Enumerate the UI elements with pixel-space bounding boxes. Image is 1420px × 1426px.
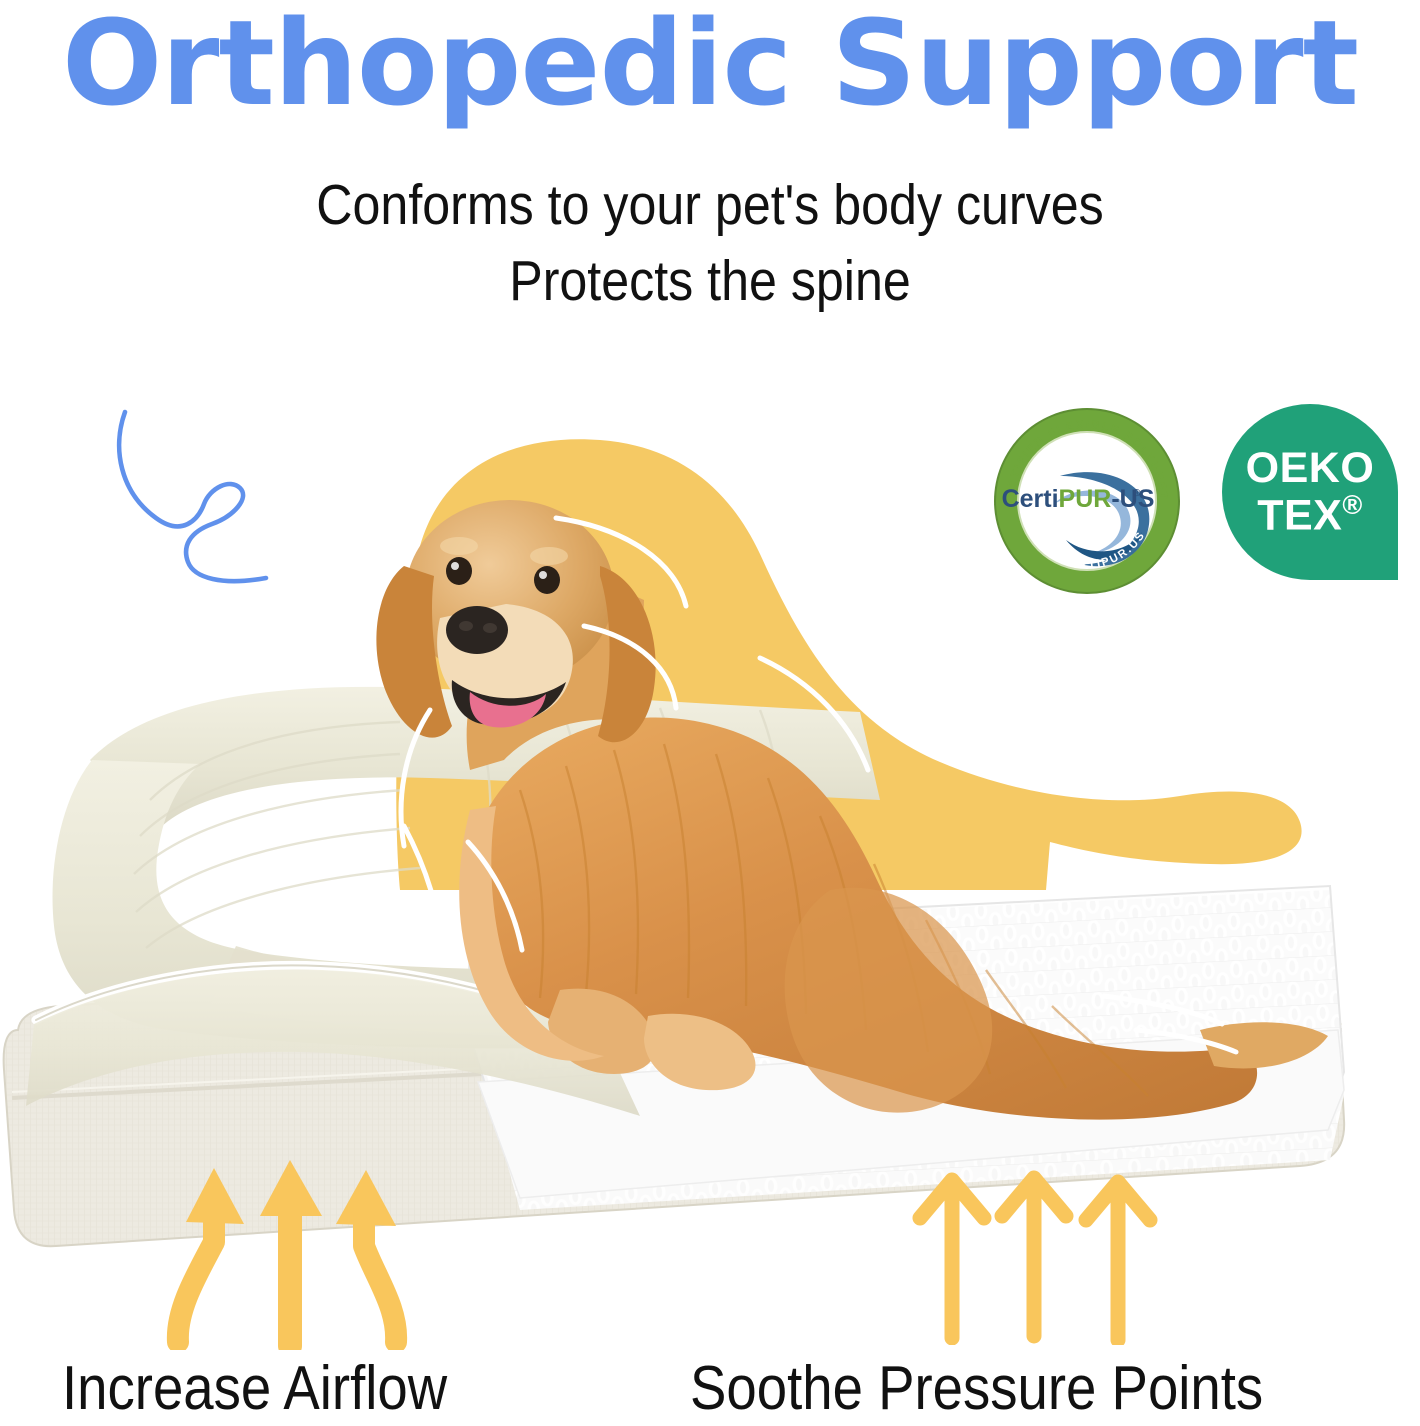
dog-nose xyxy=(446,606,508,654)
caption-increase-airflow: Increase Airflow xyxy=(62,1358,447,1420)
airflow-arrow-1 xyxy=(178,1208,214,1342)
caption-soothe-pressure-points: Soothe Pressure Points xyxy=(690,1358,1263,1420)
product-infographic: Orthopedic Support Conforms to your pet'… xyxy=(0,0,1420,1426)
airflow-arrows xyxy=(150,1150,440,1350)
dog-left-eye xyxy=(446,557,472,585)
subtitle-line-2: Protects the spine xyxy=(85,244,1335,320)
subtitle-line-1: Conforms to your pet's body curves xyxy=(85,168,1335,244)
page-title: Orthopedic Support xyxy=(0,2,1420,126)
dog-right-eye xyxy=(534,566,560,594)
pressure-relief-arrows xyxy=(910,1160,1160,1345)
airflow-arrow-3 xyxy=(364,1210,396,1342)
subtitle-block: Conforms to your pet's body curves Prote… xyxy=(85,168,1335,320)
